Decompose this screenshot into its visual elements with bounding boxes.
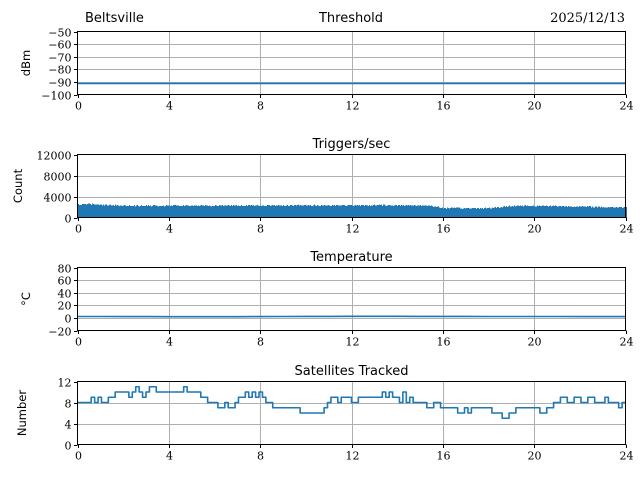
x-tick-label: 16 (437, 336, 451, 349)
x-tick-label: 0 (75, 100, 82, 113)
y-tick-label: 80 (58, 262, 72, 275)
x-tick-label: 12 (346, 450, 360, 463)
y-tick-label: −60 (48, 38, 71, 51)
threshold-panel-title: Threshold (318, 11, 383, 26)
x-tick-label: 4 (166, 223, 173, 236)
figure-canvas: Beltsville Threshold 2025/12/13 −100−90−… (0, 0, 640, 480)
figure-background (0, 0, 640, 480)
x-tick-label: 4 (166, 450, 173, 463)
x-tick-label: 20 (528, 336, 542, 349)
y-tick-label: 0 (65, 439, 72, 452)
x-tick-label: 0 (75, 223, 82, 236)
x-tick-label: 0 (75, 336, 82, 349)
x-tick-label: 24 (620, 100, 634, 113)
x-tick-label: 20 (528, 450, 542, 463)
y-tick-label: 20 (58, 299, 72, 312)
x-tick-label: 16 (437, 450, 451, 463)
x-tick-label: 24 (620, 450, 634, 463)
y-tick-label: −80 (48, 63, 71, 76)
x-tick-label: 12 (346, 100, 360, 113)
y-tick-label: −20 (48, 325, 71, 338)
temperature-y-axis-label: °C (19, 292, 33, 306)
x-tick-label: 12 (346, 336, 360, 349)
x-tick-label: 4 (166, 336, 173, 349)
y-tick-label: 4000 (44, 191, 72, 204)
y-tick-label: −90 (48, 76, 71, 89)
y-tick-label: 8 (65, 397, 72, 410)
x-tick-label: 20 (528, 223, 542, 236)
station-name: Beltsville (85, 11, 144, 26)
x-tick-label: 16 (437, 223, 451, 236)
x-tick-label: 4 (166, 100, 173, 113)
y-tick-label: 0 (65, 212, 72, 225)
satellites_tracked-title: Satellites Tracked (295, 364, 409, 379)
x-tick-label: 24 (620, 223, 634, 236)
y-tick-label: −50 (48, 26, 71, 39)
y-tick-label: 12000 (37, 149, 72, 162)
triggers_per_sec-title: Triggers/sec (312, 137, 391, 152)
x-tick-label: 20 (528, 100, 542, 113)
y-tick-label: 12 (58, 376, 72, 389)
y-tick-label: 4 (65, 418, 72, 431)
y-tick-label: 40 (58, 287, 72, 300)
x-tick-label: 8 (257, 100, 264, 113)
x-tick-label: 8 (257, 336, 264, 349)
x-tick-label: 24 (620, 336, 634, 349)
observation-date: 2025/12/13 (550, 11, 625, 26)
threshold-y-axis-label: dBm (19, 50, 33, 76)
temperature-title: Temperature (309, 250, 392, 265)
satellites_tracked-y-axis-label: Number (15, 390, 29, 436)
y-tick-label: −100 (41, 89, 71, 102)
x-tick-label: 12 (346, 223, 360, 236)
y-tick-label: −70 (48, 51, 71, 64)
x-tick-label: 8 (257, 223, 264, 236)
triggers_per_sec-y-axis-label: Count (11, 168, 25, 203)
x-tick-label: 8 (257, 450, 264, 463)
x-tick-label: 0 (75, 450, 82, 463)
x-tick-label: 16 (437, 100, 451, 113)
y-tick-label: 60 (58, 274, 72, 287)
y-tick-label: 8000 (44, 170, 72, 183)
y-tick-label: 0 (65, 312, 72, 325)
